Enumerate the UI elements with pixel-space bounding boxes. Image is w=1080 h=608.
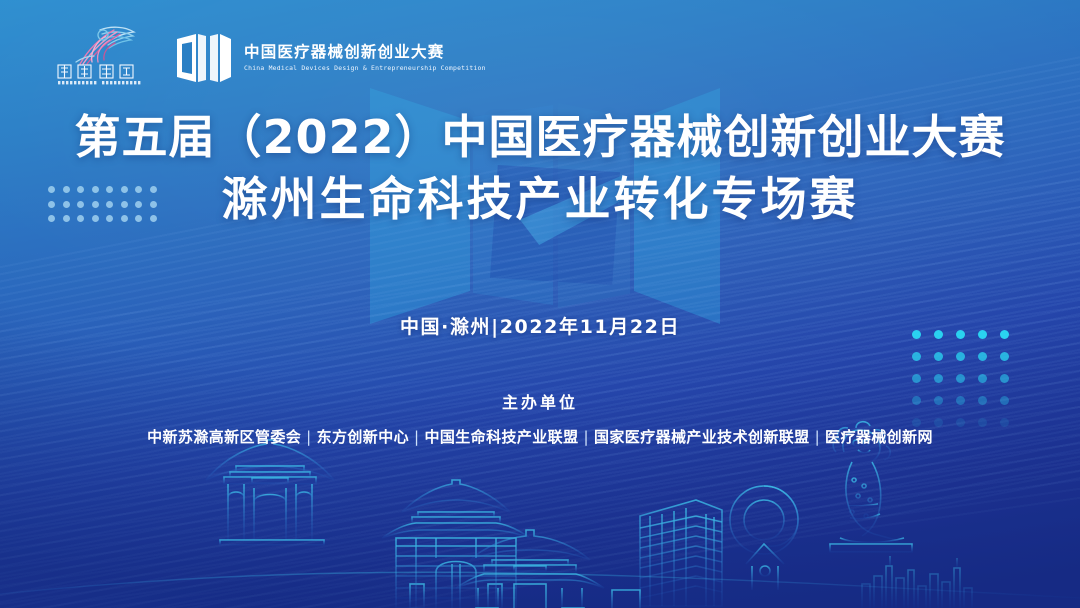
header-logos: 中国医疗器械创新创业大赛 China Medical Devices Desig… (56, 22, 486, 94)
decorative-dot (956, 352, 965, 361)
title-block: 第五届（2022）中国医疗器械创新创业大赛 滁州生命科技产业转化专场赛 (0, 112, 1080, 225)
competition-wordmark: 中国医疗器械创新创业大赛 China Medical Devices Desig… (244, 44, 486, 72)
competition-name-en: China Medical Devices Design & Entrepren… (244, 65, 486, 72)
host-separator: | (414, 428, 419, 446)
decorative-dot (978, 352, 987, 361)
innovation-china-wordmark (56, 64, 152, 86)
logo-innovation-china (56, 22, 152, 94)
memorial-archway (456, 530, 604, 608)
host-section-label: 主办单位 (0, 389, 1080, 413)
decorative-dot (1000, 352, 1009, 361)
city-skyline-strip (862, 556, 972, 608)
decorative-dot (1000, 374, 1009, 383)
event-date-location: 中国·滁州|2022年11月22日 (0, 312, 1080, 339)
gate-tower (382, 480, 530, 608)
decorative-dot (978, 374, 987, 383)
host-organization: 东方创新中心 (317, 428, 409, 446)
host-organization: 国家医疗器械产业技术创新联盟 (594, 428, 810, 446)
chinese-pavilion (206, 440, 334, 545)
host-separator: | (306, 428, 311, 446)
host-separator: | (584, 428, 589, 446)
host-organization: 中新苏滁高新区管委会 (147, 428, 301, 446)
open-door-mark-icon (176, 32, 232, 84)
ring-sculpture (730, 486, 798, 590)
bird-ribbon-emblem-icon (70, 24, 138, 66)
decorative-dot (956, 374, 965, 383)
decorative-dot (934, 352, 943, 361)
host-organizations-list: 中新苏滁高新区管委会|东方创新中心|中国生命科技产业联盟|国家医疗器械产业技术创… (0, 426, 1080, 447)
host-organization: 医疗器械创新网 (825, 428, 933, 446)
decorative-dot (912, 374, 921, 383)
host-organization: 中国生命科技产业联盟 (424, 428, 578, 446)
decorative-dot (934, 374, 943, 383)
page-subtitle: 滁州生命科技产业转化专场赛 (0, 174, 1080, 226)
decorative-dot (912, 352, 921, 361)
poster-banner: 中国医疗器械创新创业大赛 China Medical Devices Desig… (0, 0, 1080, 608)
host-separator: | (815, 428, 820, 446)
modern-office-tower (612, 500, 722, 608)
page-title: 第五届（2022）中国医疗器械创新创业大赛 (0, 112, 1080, 164)
competition-name-cn: 中国医疗器械创新创业大赛 (244, 44, 486, 62)
logo-competition: 中国医疗器械创新创业大赛 China Medical Devices Desig… (176, 32, 486, 84)
